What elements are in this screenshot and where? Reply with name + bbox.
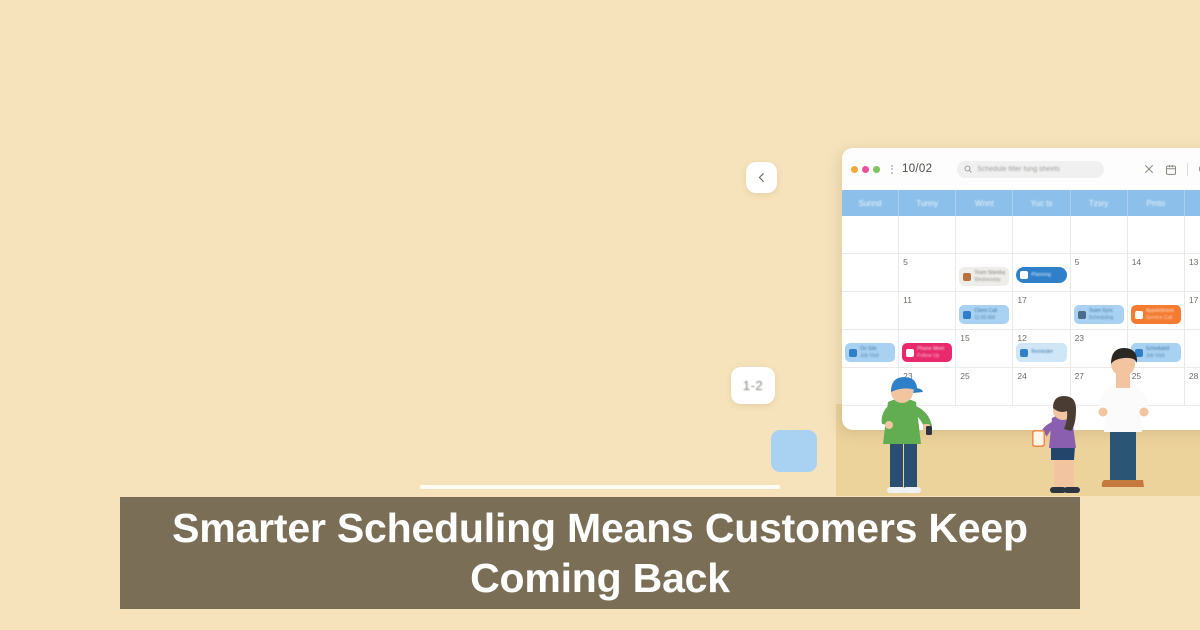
page-title: Smarter Scheduling Means Customers Keep … — [134, 503, 1066, 603]
chevron-left-icon — [756, 172, 767, 183]
calendar-day-cell[interactable]: 17 — [1013, 292, 1070, 330]
calendar-day-cell[interactable] — [1185, 330, 1200, 368]
more-options-icon[interactable] — [891, 165, 893, 174]
calendar-day-cell[interactable]: Team SyncScheduling — [1071, 292, 1128, 330]
calendar-event[interactable]: Phone MeetFollow Up — [902, 343, 952, 362]
event-text: Client Call11:00 AM — [974, 308, 997, 322]
calendar-day-cell[interactable]: 13 — [1185, 254, 1200, 292]
event-title: Team Sync — [1089, 308, 1114, 315]
calendar-day-cell[interactable]: 12Reminder — [1013, 330, 1070, 368]
weekday-header-cell: Tunny — [899, 190, 956, 216]
window-dot-orange[interactable] — [851, 166, 858, 173]
calendar-day-cell[interactable] — [956, 216, 1013, 254]
count-badge[interactable]: 1-2 — [731, 367, 775, 404]
event-text: On SiteJob Visit — [860, 346, 879, 360]
event-icon — [1020, 271, 1028, 279]
event-subtitle: Wednesday — [974, 277, 1005, 284]
day-number: 15 — [960, 333, 1012, 343]
calendar-weekday-header: SunndTunnyWnntYuc tsTzsryPmtoTofu — [842, 190, 1200, 216]
event-icon — [963, 273, 971, 281]
event-text: Reminder — [1031, 349, 1053, 356]
day-number: 5 — [1075, 257, 1127, 267]
event-text: AppointmentService Call — [1146, 308, 1174, 322]
calendar-day-cell[interactable] — [842, 292, 899, 330]
calendar-day-cell[interactable]: Phone MeetFollow Up — [899, 330, 956, 368]
calendar-day-cell[interactable] — [842, 254, 899, 292]
day-number: 23 — [1075, 333, 1127, 343]
weekday-label: Tunny — [916, 199, 938, 208]
weekday-header-cell: Pmto — [1128, 190, 1185, 216]
poster-canvas: 10/02 Schedule filter fung sheets — [0, 0, 1200, 630]
calendar-day-cell[interactable] — [1071, 216, 1128, 254]
weekday-header-cell: Tofu — [1185, 190, 1200, 216]
calendar-day-cell[interactable]: 5 — [899, 254, 956, 292]
day-number: 12 — [1017, 333, 1069, 343]
calendar-day-cell[interactable]: 17 — [1185, 292, 1200, 330]
event-title: Planning — [1031, 272, 1050, 279]
day-number: 25 — [960, 371, 1012, 381]
event-icon — [1020, 349, 1028, 357]
calendar-event[interactable]: Team StandupWednesday — [959, 267, 1009, 286]
event-icon — [963, 311, 971, 319]
weekday-header-cell: Tzsry — [1071, 190, 1128, 216]
day-number: 17 — [1189, 295, 1200, 305]
day-number: 14 — [1132, 257, 1184, 267]
calendar-day-cell[interactable]: Team StandupWednesday — [956, 254, 1013, 292]
blue-tile[interactable] — [771, 430, 817, 472]
window-traffic-lights[interactable] — [851, 166, 880, 173]
weekday-label: Tzsry — [1089, 199, 1109, 208]
calendar-event[interactable]: Planning — [1016, 267, 1066, 283]
event-icon — [849, 349, 857, 357]
day-number: 24 — [1017, 371, 1069, 381]
event-subtitle: 11:00 AM — [974, 315, 997, 322]
day-number: 11 — [903, 295, 955, 305]
event-title: Appointment — [1146, 308, 1174, 315]
calendar-day-cell[interactable]: 11 — [899, 292, 956, 330]
weekday-header-cell: Yuc ts — [1013, 190, 1070, 216]
event-title: Team Standup — [974, 270, 1005, 277]
calendar-day-cell[interactable]: AppointmentService Call — [1128, 292, 1185, 330]
event-subtitle: Follow Up — [917, 353, 944, 360]
calendar-toolbar-icons — [1143, 163, 1200, 176]
calendar-event[interactable]: AppointmentService Call — [1131, 305, 1181, 324]
day-number: 17 — [1017, 295, 1069, 305]
window-dot-green[interactable] — [873, 166, 880, 173]
weekday-label: Sunnd — [859, 199, 882, 208]
window-dot-pink[interactable] — [862, 166, 869, 173]
calendar-day-cell[interactable]: 14 — [1128, 254, 1185, 292]
search-input[interactable]: Schedule filter fung sheets — [957, 161, 1104, 178]
calendar-date-label: 10/02 — [902, 163, 932, 175]
calendar-day-cell[interactable] — [1128, 216, 1185, 254]
day-number: 5 — [903, 257, 955, 267]
event-text: Team StandupWednesday — [974, 270, 1005, 284]
event-title: On Site — [860, 346, 879, 353]
event-icon — [1078, 311, 1086, 319]
calendar-day-cell[interactable]: Planning — [1013, 254, 1070, 292]
event-title: Reminder — [1031, 349, 1053, 356]
weekday-label: Pmto — [1146, 199, 1165, 208]
weekday-header-cell: Wnnt — [956, 190, 1013, 216]
event-subtitle: Scheduling — [1089, 315, 1114, 322]
calendar-day-cell[interactable]: 5 — [1071, 254, 1128, 292]
day-number: 28 — [1189, 371, 1200, 381]
event-icon — [1135, 311, 1143, 319]
event-subtitle: Service Call — [1146, 315, 1174, 322]
calendar-day-cell[interactable]: Client Call11:00 AM — [956, 292, 1013, 330]
calendar-day-cell[interactable] — [1013, 216, 1070, 254]
search-icon — [964, 165, 972, 173]
weekday-header-cell: Sunnd — [842, 190, 899, 216]
calendar-day-cell[interactable] — [899, 216, 956, 254]
calendar-day-cell[interactable]: 25 — [956, 368, 1013, 406]
calendar-event[interactable]: Team SyncScheduling — [1074, 305, 1124, 324]
calendar-day-cell[interactable]: 15 — [956, 330, 1013, 368]
calendar-icon[interactable] — [1165, 163, 1177, 176]
scissors-icon[interactable] — [1143, 163, 1155, 175]
calendar-toolbar: 10/02 Schedule filter fung sheets — [842, 148, 1200, 190]
calendar-day-cell[interactable]: 28 — [1185, 368, 1200, 406]
event-icon — [906, 349, 914, 357]
event-text: Team SyncScheduling — [1089, 308, 1114, 322]
count-badge-label: 1-2 — [743, 378, 763, 393]
toolbar-divider — [1187, 163, 1188, 176]
event-text: Planning — [1031, 272, 1050, 279]
title-rule — [420, 485, 780, 489]
person-white-shirt — [1090, 346, 1156, 496]
weekday-label: Yuc ts — [1031, 199, 1053, 208]
calendar-day-cell[interactable] — [1185, 216, 1200, 254]
day-number: 13 — [1189, 257, 1200, 267]
event-title: Client Call — [974, 308, 997, 315]
calendar-event[interactable]: On SiteJob Visit — [845, 343, 895, 362]
person-green-shirt — [874, 368, 948, 496]
search-input-value: Schedule filter fung sheets — [977, 166, 1060, 173]
calendar-day-cell[interactable]: On SiteJob Visit — [842, 330, 899, 368]
headline-overlay: Smarter Scheduling Means Customers Keep … — [120, 497, 1080, 609]
weekday-label: Wnnt — [975, 199, 994, 208]
event-title: Phone Meet — [917, 346, 944, 353]
back-button[interactable] — [746, 162, 777, 193]
calendar-event[interactable]: Reminder — [1016, 343, 1066, 362]
event-subtitle: Job Visit — [860, 353, 879, 360]
person-purple-top — [1030, 394, 1092, 496]
calendar-event[interactable]: Client Call11:00 AM — [959, 305, 1009, 324]
event-text: Phone MeetFollow Up — [917, 346, 944, 360]
calendar-day-cell[interactable] — [842, 216, 899, 254]
